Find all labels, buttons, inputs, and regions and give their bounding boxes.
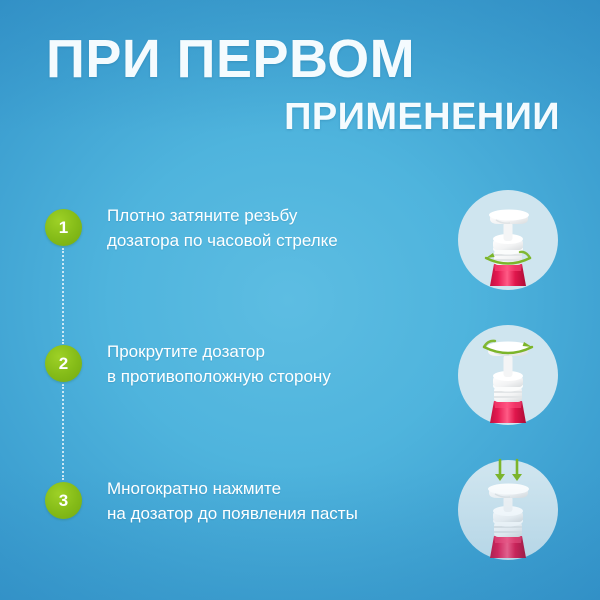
step-text-1-line-1: Плотно затяните резьбу bbox=[107, 203, 437, 228]
step-text-2: Прокрутите дозатор в противоположную сто… bbox=[107, 339, 437, 389]
step-number-badge-2: 2 bbox=[45, 345, 82, 382]
step-text-1-line-2: дозатора по часовой стрелке bbox=[107, 228, 437, 253]
page-title-line-2: ПРИМЕНЕНИИ bbox=[0, 96, 600, 138]
instruction-poster: ПРИ ПЕРВОМ ПРИМЕНЕНИИ 1 Плотно затяните … bbox=[0, 0, 600, 600]
step-text-1: Плотно затяните резьбу дозатора по часов… bbox=[107, 203, 437, 253]
step-number-badge-3: 3 bbox=[45, 482, 82, 519]
step-text-2-line-1: Прокрутите дозатор bbox=[107, 339, 437, 364]
page-title-line-1: ПРИ ПЕРВОМ bbox=[0, 30, 600, 88]
step-text-3-line-1: Многократно нажмите bbox=[107, 476, 437, 501]
step-text-3: Многократно нажмите на дозатор до появле… bbox=[107, 476, 437, 526]
page-title: ПРИ ПЕРВОМ ПРИМЕНЕНИИ bbox=[0, 30, 600, 138]
step-number-badge-1: 1 bbox=[45, 209, 82, 246]
step-connector-1-2 bbox=[62, 248, 64, 344]
step-connector-2-3 bbox=[62, 384, 64, 480]
step-text-2-line-2: в противоположную сторону bbox=[107, 364, 437, 389]
step-text-3-line-2: на дозатор до появления пасты bbox=[107, 501, 437, 526]
